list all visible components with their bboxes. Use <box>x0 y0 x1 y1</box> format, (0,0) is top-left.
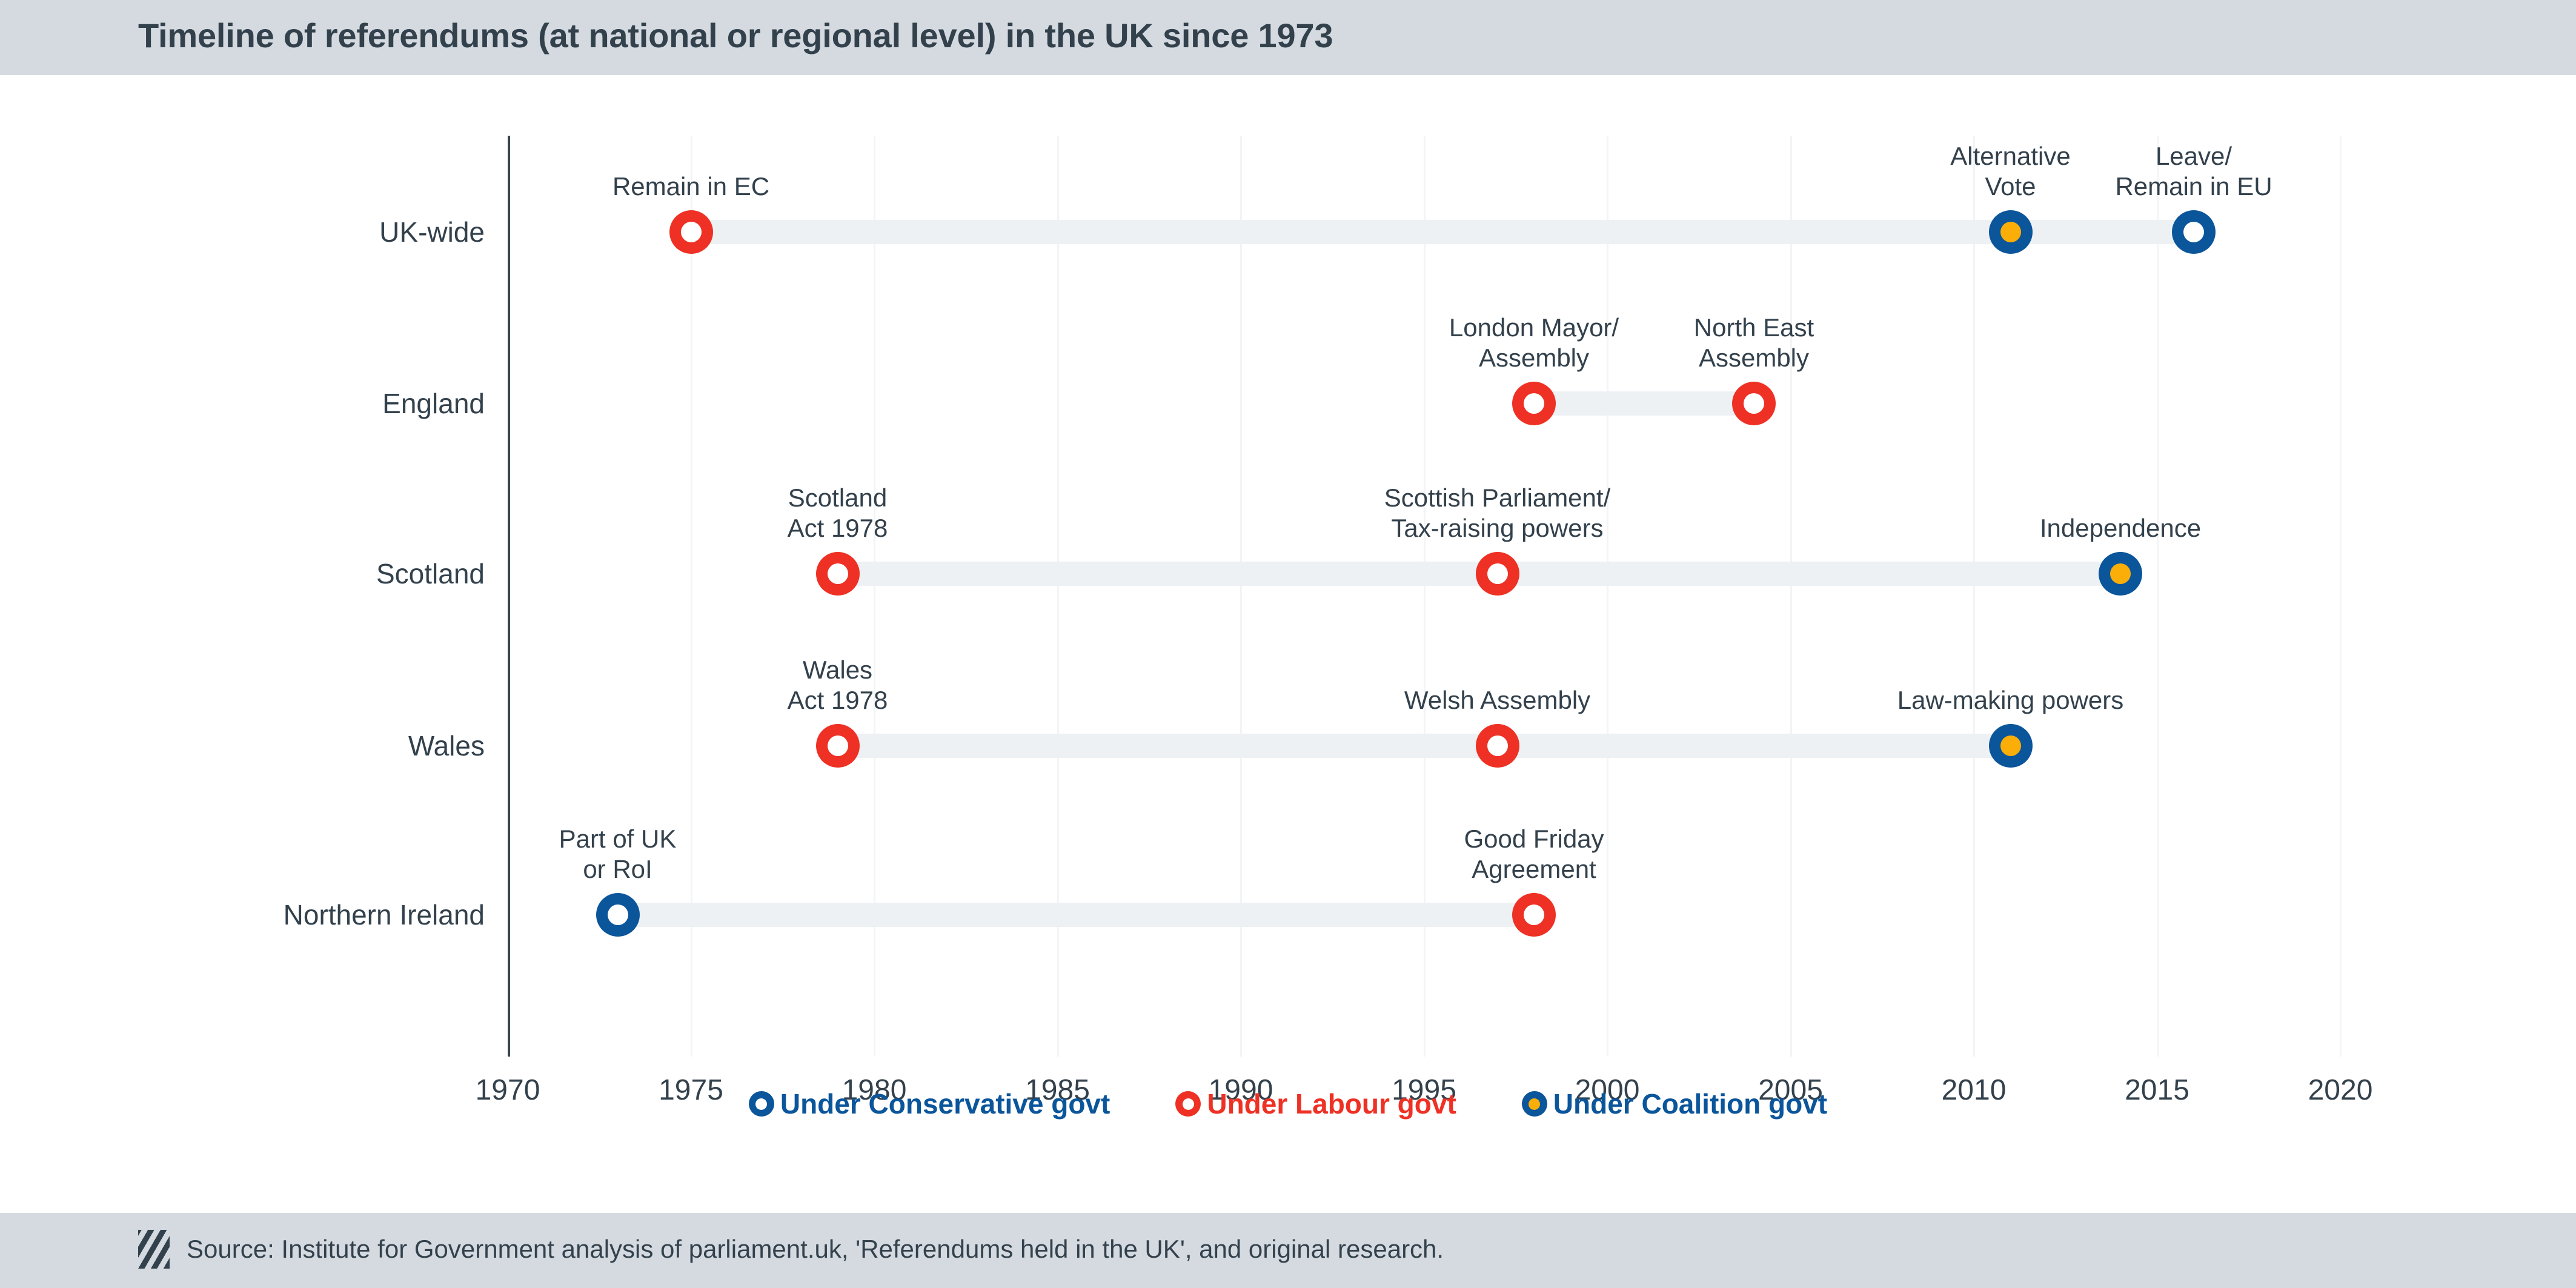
event-marker-leave-remain-in-eu[interactable] <box>2172 210 2216 254</box>
row-track-england <box>1534 391 1754 416</box>
plot-area: UK-wideEnglandScotlandWalesNorthern Irel… <box>0 75 2576 1220</box>
event-label-scotland-act-1978: Scotland Act 1978 <box>788 483 888 543</box>
legend-swatch-icon <box>1522 1091 1547 1117</box>
gridline-2005 <box>1790 136 1792 1057</box>
gridline-2010 <box>1973 136 1975 1057</box>
row-track-uk-wide <box>691 220 2194 244</box>
event-label-leave-remain-in-eu: Leave/ Remain in EU <box>2115 141 2272 201</box>
legend-label: Under Labour govt <box>1207 1087 1456 1120</box>
marker-core <box>1524 905 1544 925</box>
event-marker-remain-in-ec[interactable] <box>669 210 713 254</box>
event-marker-part-of-uk-or-roi[interactable] <box>596 893 640 937</box>
source-note: Source: Institute for Government analysi… <box>187 1235 1444 1264</box>
event-marker-good-friday-agreement[interactable] <box>1512 893 1556 937</box>
marker-core <box>681 222 702 242</box>
marker-core <box>2000 735 2021 756</box>
row-label-wales: Wales <box>408 729 485 762</box>
row-label-uk-wide: UK-wide <box>379 216 485 248</box>
marker-core <box>2183 222 2204 242</box>
legend-swatch-core <box>1529 1098 1540 1110</box>
event-label-good-friday-agreement: Good Friday Agreement <box>1464 824 1604 884</box>
gridline-2000 <box>1607 136 1608 1057</box>
event-marker-welsh-assembly[interactable] <box>1476 724 1519 768</box>
event-label-london-mayor-assembly: London Mayor/ Assembly <box>1449 313 1619 373</box>
page-title: Timeline of referendums (at national or … <box>138 16 1333 55</box>
row-label-england: England <box>382 387 485 420</box>
row-track-northern-ireland <box>618 903 1535 927</box>
event-label-wales-act-1978: Wales Act 1978 <box>788 655 888 715</box>
event-label-part-of-uk-or-roi: Part of UK or RoI <box>559 824 677 884</box>
legend-swatch-icon <box>749 1091 774 1117</box>
legend: Under Conservative govtUnder Labour govt… <box>0 1087 2576 1120</box>
event-label-law-making-powers: Law-making powers <box>1897 685 2124 715</box>
marker-core <box>828 563 848 584</box>
timeline-chart-page: Timeline of referendums (at national or … <box>0 0 2576 1288</box>
row-label-scotland: Scotland <box>376 557 485 590</box>
row-label-northern-ireland: Northern Ireland <box>284 898 485 931</box>
marker-core <box>2110 563 2131 584</box>
event-marker-scottish-parliament-tax-raising-powers[interactable] <box>1476 552 1519 596</box>
event-marker-independence[interactable] <box>2099 552 2142 596</box>
legend-label: Under Coalition govt <box>1553 1087 1827 1120</box>
footer-band: Source: Institute for Government analysi… <box>0 1213 2576 1288</box>
legend-swatch-icon <box>1175 1091 1201 1117</box>
marker-core <box>1524 393 1544 414</box>
event-marker-scotland-act-1978[interactable] <box>816 552 860 596</box>
legend-swatch-core <box>1183 1098 1194 1110</box>
legend-item-under-conservative-govt[interactable]: Under Conservative govt <box>749 1087 1110 1120</box>
header-band: Timeline of referendums (at national or … <box>0 0 2576 75</box>
event-marker-wales-act-1978[interactable] <box>816 724 860 768</box>
event-label-scottish-parliament-tax-raising-powers: Scottish Parliament/ Tax-raising powers <box>1384 483 1611 543</box>
y-axis-line <box>508 136 510 1057</box>
legend-swatch-core <box>755 1098 767 1110</box>
event-marker-alternative-vote[interactable] <box>1989 210 2033 254</box>
marker-core <box>608 905 628 925</box>
legend-label: Under Conservative govt <box>780 1087 1110 1120</box>
event-label-independence: Independence <box>2040 513 2201 543</box>
event-marker-law-making-powers[interactable] <box>1989 724 2033 768</box>
marker-core <box>1744 393 1764 414</box>
event-marker-north-east-assembly[interactable] <box>1732 382 1776 425</box>
event-marker-london-mayor-assembly[interactable] <box>1512 382 1556 425</box>
marker-core <box>1487 563 1508 584</box>
row-track-wales <box>838 734 2011 758</box>
hatched-square-icon <box>138 1230 170 1269</box>
marker-core <box>1487 735 1508 756</box>
legend-item-under-coalition-govt[interactable]: Under Coalition govt <box>1522 1087 1827 1120</box>
gridline-2020 <box>2340 136 2342 1057</box>
event-label-north-east-assembly: North East Assembly <box>1694 313 1814 373</box>
event-label-welsh-assembly: Welsh Assembly <box>1404 685 1590 715</box>
marker-core <box>828 735 848 756</box>
marker-core <box>2000 222 2021 242</box>
gridline-2015 <box>2157 136 2159 1057</box>
event-label-remain-in-ec: Remain in EC <box>612 171 769 202</box>
legend-item-under-labour-govt[interactable]: Under Labour govt <box>1175 1087 1456 1120</box>
event-label-alternative-vote: Alternative Vote <box>1950 141 2070 201</box>
